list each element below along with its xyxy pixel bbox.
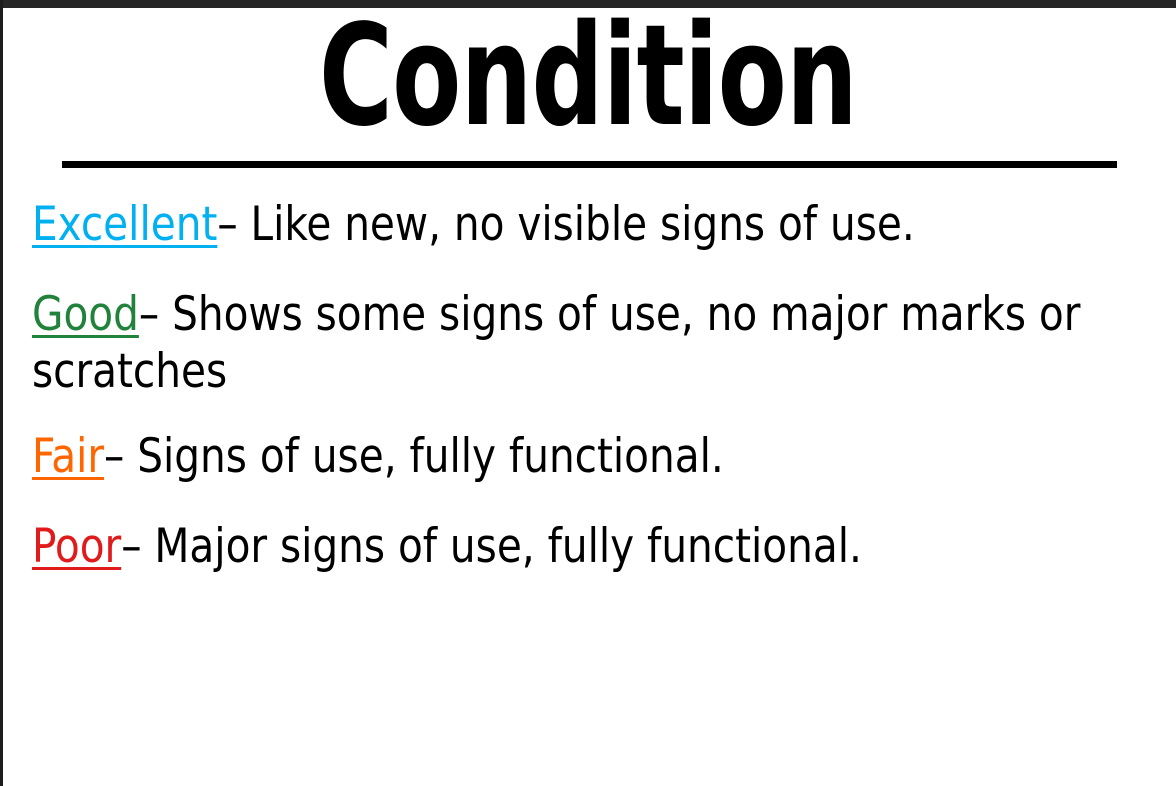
list-item: Poor– Major signs of use, fully function… bbox=[32, 518, 1107, 575]
slide-canvas: Condition Excellent– Like new, no visibl… bbox=[0, 0, 1176, 786]
condition-keyword-good: Good bbox=[32, 287, 139, 342]
condition-keyword-excellent: Excellent bbox=[32, 197, 217, 252]
list-item: Good– Shows some signs of use, no major … bbox=[32, 286, 1107, 400]
condition-keyword-fair: Fair bbox=[32, 429, 104, 484]
title-block: Condition bbox=[0, 8, 1176, 168]
condition-list: Excellent– Like new, no visible signs of… bbox=[32, 196, 1152, 608]
condition-keyword-poor: Poor bbox=[32, 519, 121, 574]
condition-description-excellent: – Like new, no visible signs of use. bbox=[217, 197, 914, 252]
list-item: Excellent– Like new, no visible signs of… bbox=[32, 196, 1107, 253]
condition-description-fair: – Signs of use, fully functional. bbox=[104, 429, 724, 484]
title-underline-rule bbox=[62, 161, 1117, 168]
page-title: Condition bbox=[118, 2, 1059, 152]
condition-description-poor: – Major signs of use, fully functional. bbox=[121, 519, 862, 574]
condition-description-good: – Shows some signs of use, no major mark… bbox=[32, 287, 1080, 399]
list-item: Fair– Signs of use, fully functional. bbox=[32, 428, 1107, 485]
